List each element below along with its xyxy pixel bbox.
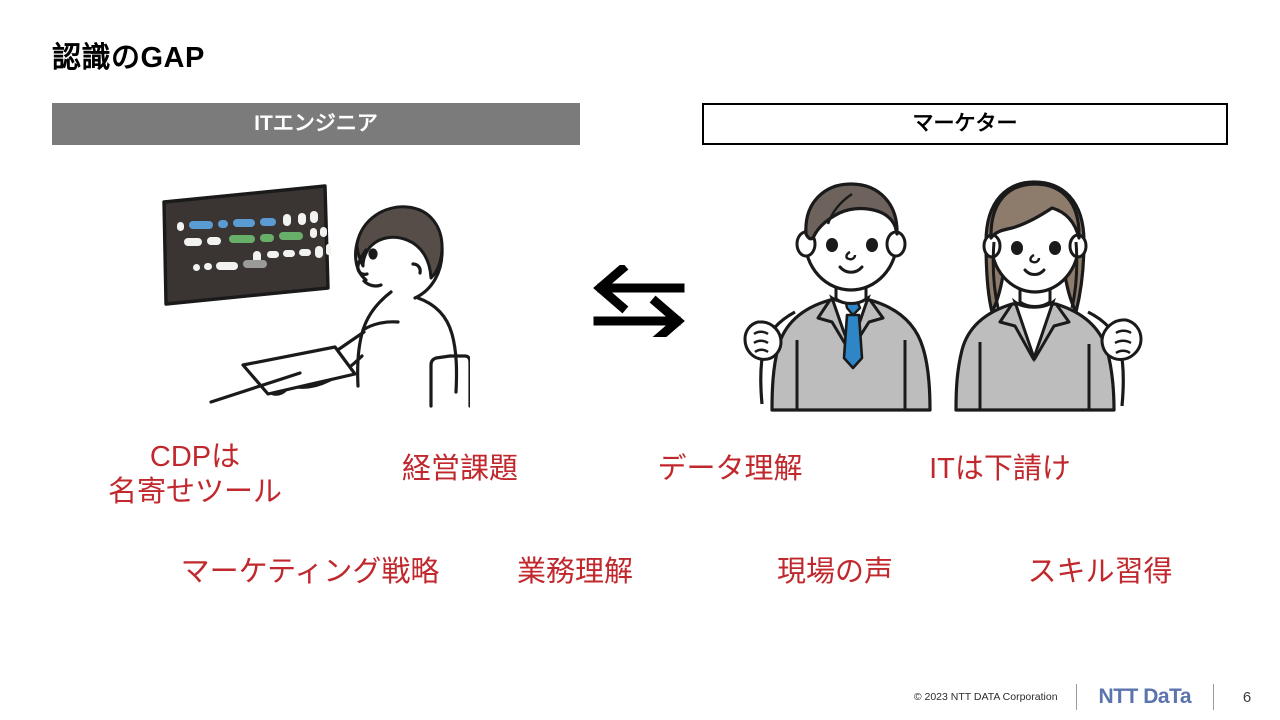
- keyword-keiei: 経営課題: [375, 452, 545, 486]
- keyword-genba: 現場の声: [745, 555, 925, 589]
- keyword-marketing: マーケティング戦略: [170, 555, 450, 589]
- two-marketers-illustration: [740, 172, 1150, 417]
- copyright-text: © 2023 NTT DATA Corporation: [914, 691, 1076, 703]
- slide-canvas: 認識のGAP ITエンジニア マーケター: [0, 0, 1280, 720]
- arrow-right-icon: [598, 302, 678, 337]
- column-header-engineer: ITエンジニア: [52, 103, 580, 145]
- keyword-shitauke: ITは下請け: [900, 452, 1100, 486]
- bidirectional-arrows: [590, 265, 690, 342]
- keyword-data: データ理解: [645, 452, 815, 486]
- slide-footer: © 2023 NTT DATA Corporation NTT DaTa 6: [914, 684, 1258, 710]
- arrow-left-icon: [600, 269, 680, 307]
- keyword-skill: スキル習得: [1000, 555, 1200, 589]
- female-marketer-figure: [956, 182, 1141, 410]
- page-title: 認識のGAP: [52, 34, 205, 76]
- column-header-marketer: マーケター: [702, 103, 1228, 145]
- page-number: 6: [1214, 689, 1258, 706]
- engineer-at-desk-illustration: [150, 180, 470, 415]
- keyword-gyomu: 業務理解: [485, 555, 665, 589]
- male-marketer-figure: [745, 184, 930, 410]
- ntt-data-logo: NTT DaTa: [1077, 685, 1213, 709]
- keyword-cdp: CDPは 名寄せツール: [95, 440, 295, 511]
